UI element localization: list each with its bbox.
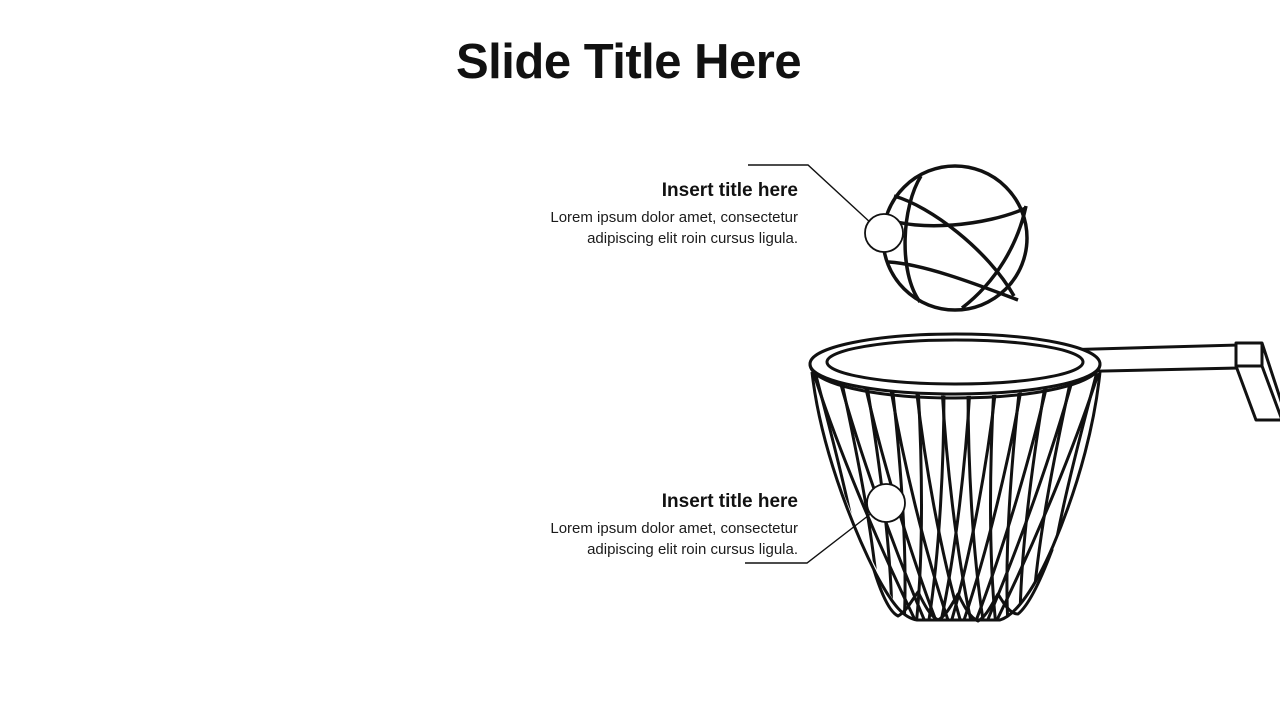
backboard-arm-icon xyxy=(1060,345,1238,372)
callout-1-marker[interactable] xyxy=(865,214,903,252)
callout-2-title: Insert title here xyxy=(508,490,798,514)
basketball-icon xyxy=(883,166,1027,310)
illustration-layer xyxy=(0,0,1280,720)
callout-1-body: Lorem ipsum dolor amet, consectetur adip… xyxy=(508,207,798,250)
callout-block-2: Insert title here Lorem ipsum dolor amet… xyxy=(508,490,798,560)
hoop-rim-icon xyxy=(810,334,1100,398)
callout-1-title: Insert title here xyxy=(508,179,798,203)
hoop-net-icon xyxy=(812,368,1100,626)
callout-block-1: Insert title here Lorem ipsum dolor amet… xyxy=(508,179,798,249)
backboard-icon xyxy=(1236,343,1280,420)
callout-2-marker[interactable] xyxy=(867,484,905,522)
slide-canvas: Slide Title Here Insert title here Lorem… xyxy=(0,0,1280,720)
callout-2-body: Lorem ipsum dolor amet, consectetur adip… xyxy=(508,518,798,561)
page-title: Slide Title Here xyxy=(456,36,1156,89)
